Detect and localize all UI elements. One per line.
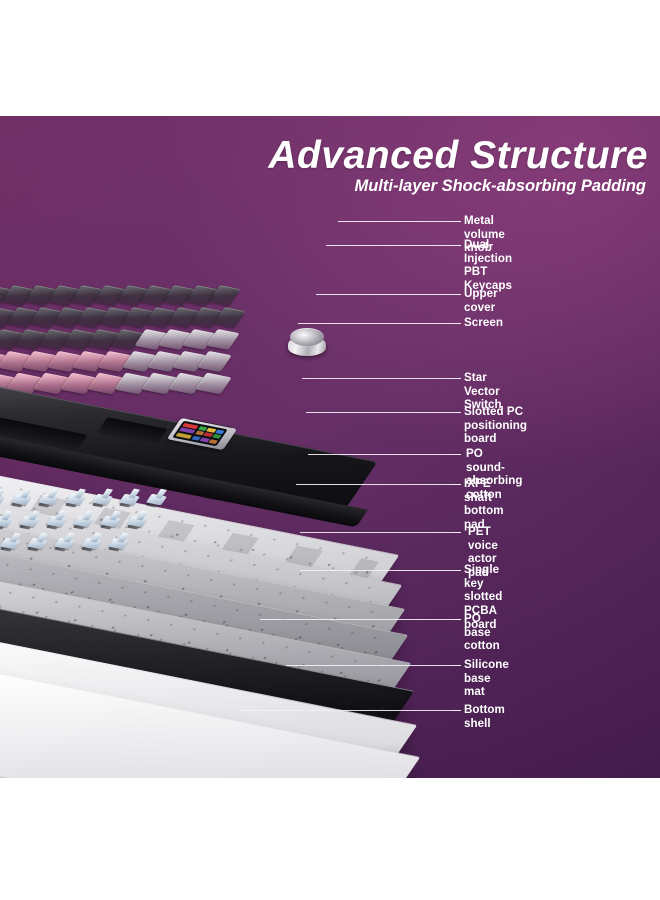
- screen-pixel: [209, 439, 219, 444]
- callout-label: Bottom shell: [464, 703, 505, 730]
- mechanical-switch: [127, 510, 152, 528]
- leader-line-keycaps: [326, 245, 460, 246]
- callout-dash-icon: [454, 619, 461, 620]
- page-subtitle: Multi-layer Shock-absorbing Padding: [354, 177, 646, 196]
- keycap-top: [218, 307, 246, 322]
- keycap-top: [200, 373, 232, 388]
- callout-dash-icon: [454, 570, 461, 571]
- leader-line-cover: [316, 294, 460, 295]
- callout-label: Silicone base mat: [464, 658, 509, 699]
- mechanical-switch: [100, 510, 125, 528]
- callout-dash-icon: [454, 412, 461, 413]
- keycap-top: [211, 329, 240, 344]
- leader-line-bottom-shell: [240, 710, 460, 711]
- mechanical-switch: [108, 532, 133, 550]
- keycap-top: [202, 351, 232, 366]
- screen-part: [174, 416, 244, 456]
- page-title: Advanced Structure: [268, 134, 648, 178]
- plate-edge: [0, 762, 359, 778]
- leader-line-po-base: [260, 619, 460, 620]
- callout-label: Slotted PC positioning board: [464, 405, 527, 446]
- callout-dash-icon: [454, 378, 461, 379]
- mechanical-switch: [46, 510, 71, 528]
- callout-label: IXPE shaft bottom pad: [464, 477, 504, 532]
- leader-line-po-cotton: [308, 454, 460, 455]
- leader-line-knob: [338, 221, 460, 222]
- leader-line-pet: [300, 532, 460, 533]
- leader-line-switch: [302, 378, 460, 379]
- callout-label: Screen: [464, 316, 503, 330]
- callout-label: Dual-Injection PBT Keycaps: [464, 238, 512, 293]
- mechanical-switch: [19, 510, 44, 528]
- metal-volume-knob-part: [288, 328, 328, 362]
- screen-pixel: [216, 429, 226, 434]
- callout-dash-icon: [454, 484, 461, 485]
- callout-label: Upper cover: [464, 287, 498, 314]
- callout-label: PO base cotton: [464, 612, 500, 653]
- mechanical-switch: [73, 510, 98, 528]
- leader-line-pc-plate: [306, 412, 460, 413]
- mechanical-switch: [27, 532, 52, 550]
- callout-dash-icon: [454, 245, 461, 246]
- callout-dash-icon: [454, 323, 461, 324]
- callout-dash-icon: [454, 710, 461, 711]
- exploded-keyboard-illustration: [0, 116, 458, 778]
- callout-dash-icon: [454, 532, 461, 533]
- leader-line-silicone: [286, 665, 460, 666]
- mechanical-switch: [81, 532, 106, 550]
- screen-pixel: [212, 434, 222, 439]
- callout-dash-icon: [454, 221, 461, 222]
- leader-line-pcba: [300, 570, 460, 571]
- callout-dash-icon: [454, 665, 461, 666]
- mechanical-switch: [0, 510, 17, 528]
- leader-line-screen: [298, 323, 460, 324]
- mechanical-switch: [0, 532, 25, 550]
- leader-line-ixpe: [296, 484, 460, 485]
- purple-panel: Advanced Structure Multi-layer Shock-abs…: [0, 116, 660, 778]
- mechanical-switch: [54, 532, 79, 550]
- keycap-top: [213, 285, 241, 300]
- callout-dash-icon: [454, 454, 461, 455]
- infographic-page: Advanced Structure Multi-layer Shock-abs…: [0, 0, 660, 900]
- knob-top: [290, 328, 324, 346]
- callout-dash-icon: [454, 294, 461, 295]
